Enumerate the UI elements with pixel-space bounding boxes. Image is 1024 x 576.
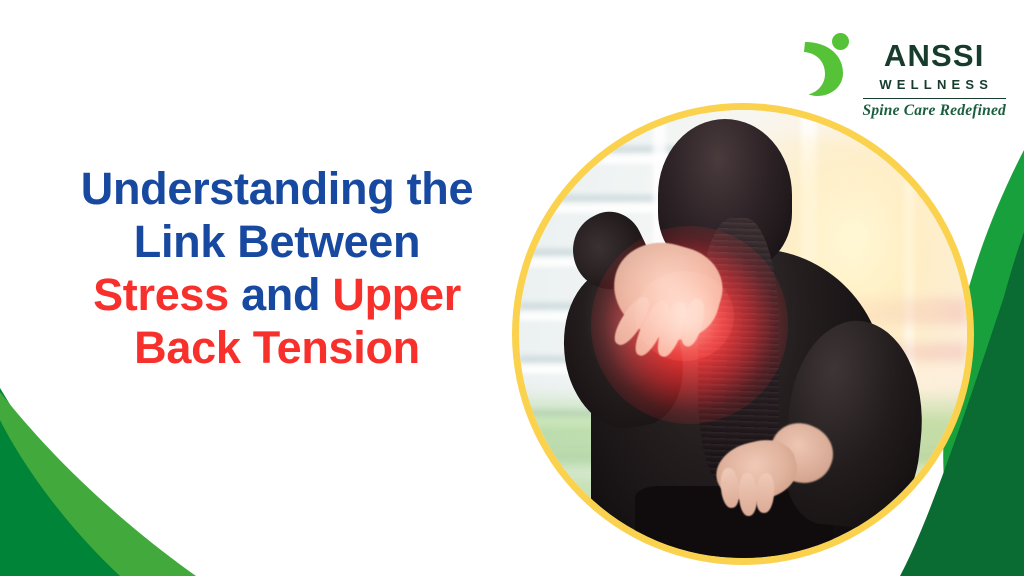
left-dark-green-swoosh (0, 388, 132, 576)
headline-line-2: Link Between (30, 215, 524, 268)
pain-glow-core (635, 271, 734, 361)
brand-logo[interactable]: ANSSI WELLNESS Spine Care Redefined (795, 32, 1007, 119)
headline-line-4: Back Tension (30, 321, 524, 374)
hero-photo (519, 110, 967, 558)
left-light-green-swoosh (0, 392, 196, 576)
logo-tagline: Spine Care Redefined (863, 103, 1007, 119)
right-dark-green-swoosh (982, 232, 1024, 576)
headline-word-and: and (241, 269, 320, 320)
headline-line-3: Stress and Upper (30, 268, 524, 321)
logo-name: ANSSI (863, 40, 1007, 71)
headline: Understanding the Link Between Stress an… (30, 162, 524, 374)
headline-word-upper: Upper (332, 269, 461, 320)
logo-divider (863, 98, 1007, 99)
headline-word-stress: Stress (93, 269, 229, 320)
headline-line-1: Understanding the (30, 162, 524, 215)
logo-subtitle: WELLNESS (863, 78, 1007, 91)
anssi-crescent-icon (795, 32, 853, 100)
banner-root: Understanding the Link Between Stress an… (0, 0, 1024, 576)
